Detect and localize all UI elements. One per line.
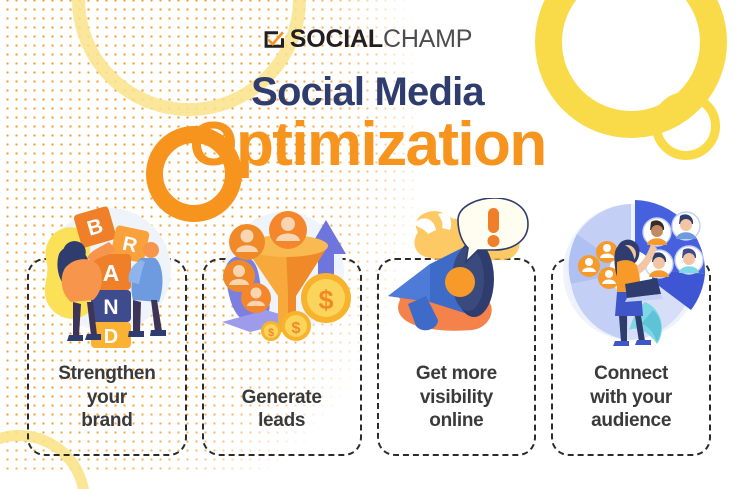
svg-text:A: A [103,260,120,286]
logo-text-light: CHAMP [383,25,472,53]
infographic-canvas: SOCIALCHAMP Social Media Optimization B [0,0,735,489]
audience-pie-chart-illustration [553,198,709,348]
benefit-cards-row: B R A N D [27,258,711,456]
svg-text:$: $ [318,285,333,315]
card-label: Strengthen your brand [37,362,177,454]
svg-text:B: B [85,214,106,240]
svg-text:$: $ [268,327,274,339]
card-label: Generate leads [212,386,352,454]
card-strengthen-your-brand[interactable]: B R A N D [27,258,187,456]
title-line-primary: Social Media [0,72,735,112]
brand-blocks-illustration: B R A N D [29,198,185,348]
card-generate-leads[interactable]: $ $ $ Generate leads [202,258,362,456]
svg-text:N: N [103,296,118,319]
card-connect-with-your-audience[interactable]: Connect with your audience [551,258,711,456]
megaphone-announcement-illustration [378,198,534,348]
title-line-secondary: Optimization [0,114,735,176]
brand-logo: SOCIALCHAMP [0,27,735,52]
svg-text:D: D [104,326,118,348]
brand-logo-text: SOCIALCHAMP [290,27,473,52]
svg-text:R: R [120,233,139,258]
card-get-more-visibility-online[interactable]: Get more visibility online [377,258,537,456]
lead-funnel-illustration: $ $ $ [204,198,360,348]
checkbox-check-icon [263,29,284,50]
page-title: Social Media Optimization [0,72,735,176]
card-label: Get more visibility online [386,362,526,454]
svg-text:$: $ [291,320,300,337]
card-label: Connect with your audience [561,362,701,454]
logo-text-bold: SOCIAL [290,25,383,53]
